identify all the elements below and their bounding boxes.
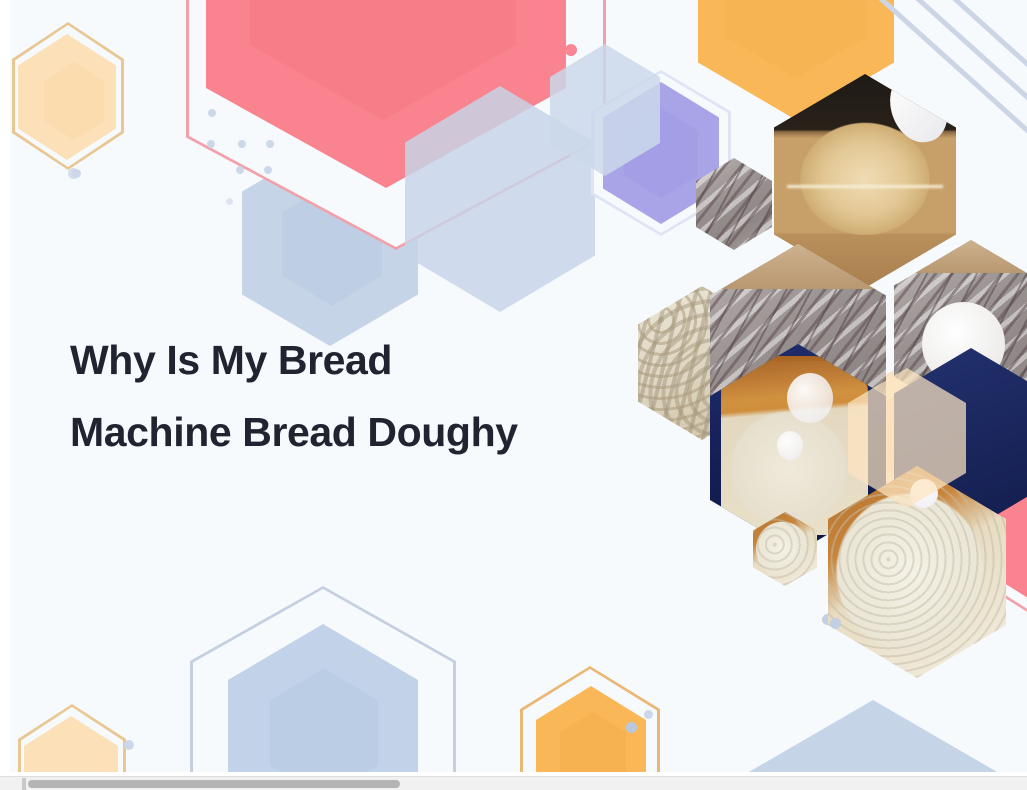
scrollbar-thumb[interactable]: [28, 780, 400, 788]
hexagon-peach-foreground: [848, 368, 966, 508]
page-title: Why Is My Bread Machine Bread Doughy: [70, 325, 650, 469]
hexagon-pink-top: [206, 0, 566, 188]
hexagon-outline-bluegray-bottom: [190, 586, 456, 772]
diagonal-line-1: [872, 0, 1027, 135]
diagonal-line-3: [928, 0, 1027, 119]
hexagon-orange-bottom-inner: [560, 712, 626, 772]
photo-sliced-loaf-on-blue-cloth: [710, 344, 886, 552]
hexagon-peach-overlay: [844, 362, 970, 510]
dot-11: [644, 710, 653, 719]
hexagon-bluegray-midleft: [242, 140, 418, 346]
hexagon-outline-orange-topleft: [12, 22, 124, 170]
article-hero-card: Why Is My Bread Machine Bread Doughy: [10, 0, 1027, 772]
photo-blue-cloth-right: [894, 348, 1027, 530]
hexagon-bluegray-midleft-inner: [282, 182, 382, 306]
hexagon-bluegray-bottom-inner: [270, 668, 378, 772]
hexagon-orange-topleft-inner: [44, 62, 104, 140]
hexagon-outline-purple: [591, 70, 731, 236]
hexagon-bluegray-bottomright: [748, 700, 998, 772]
hexagon-pink-bottomright: [986, 470, 1027, 606]
photo-bread-crumb-texture: [638, 286, 766, 440]
photo-granite-countertop-center: [710, 244, 886, 450]
dot-9: [124, 740, 134, 750]
hexagon-orange-topleft: [18, 34, 116, 160]
dot-3: [238, 140, 246, 148]
dot-1: [208, 109, 216, 117]
dot-10: [626, 722, 637, 733]
page-title-line-1: Why Is My Bread: [70, 337, 392, 383]
hexagon-pink-top-inner: [250, 0, 516, 120]
diagonal-line-2: [900, 0, 1027, 127]
hexagon-outline-pink-bottomright: [972, 456, 1027, 618]
photo-white-bread-slice-large: [828, 466, 1006, 678]
photo-granite-countertop-corner: [696, 158, 772, 250]
photo-granite-countertop-flour-circle: [894, 240, 1027, 422]
hexagon-orange-topright: [698, 0, 894, 120]
photo-white-bread-slice-small: [753, 512, 817, 586]
dot-6: [264, 166, 272, 174]
dot-12: [822, 614, 833, 625]
dot-pink-top: [565, 44, 577, 56]
hexagon-outline-orange-bottomleft: [18, 704, 126, 772]
hexagon-orange-topright-inner: [726, 0, 866, 78]
dot-2: [207, 140, 215, 148]
hexagon-orange-bottomleft: [24, 716, 118, 772]
dot-4: [266, 140, 274, 148]
hexagon-bluegray-bottom: [228, 624, 418, 772]
dot-5: [236, 166, 244, 174]
dot-13: [226, 198, 233, 205]
dot-8: [72, 169, 81, 178]
hexagon-purple: [603, 82, 719, 224]
page-root: Why Is My Bread Machine Bread Doughy: [0, 0, 1027, 790]
page-title-line-2: Machine Bread Doughy: [70, 409, 518, 455]
hexagon-outline-pink-top: [186, 0, 606, 250]
photo-loaf-of-white-bread-on-board: [774, 74, 956, 288]
hexagon-outline-orange-bottom: [520, 666, 660, 772]
hexagon-bluegray-behind-pink: [405, 86, 595, 312]
horizontal-scrollbar[interactable]: [0, 776, 1027, 790]
hexagon-peach-overlay-inner: [868, 388, 946, 482]
dot-7: [68, 168, 79, 179]
scrollbar-left-cap[interactable]: [22, 778, 26, 790]
hexagon-purple-inner: [624, 108, 698, 198]
hexagon-orange-bottom: [536, 686, 646, 772]
hexagon-bluegray-left-of-purple: [550, 44, 660, 176]
dot-14: [830, 618, 841, 629]
